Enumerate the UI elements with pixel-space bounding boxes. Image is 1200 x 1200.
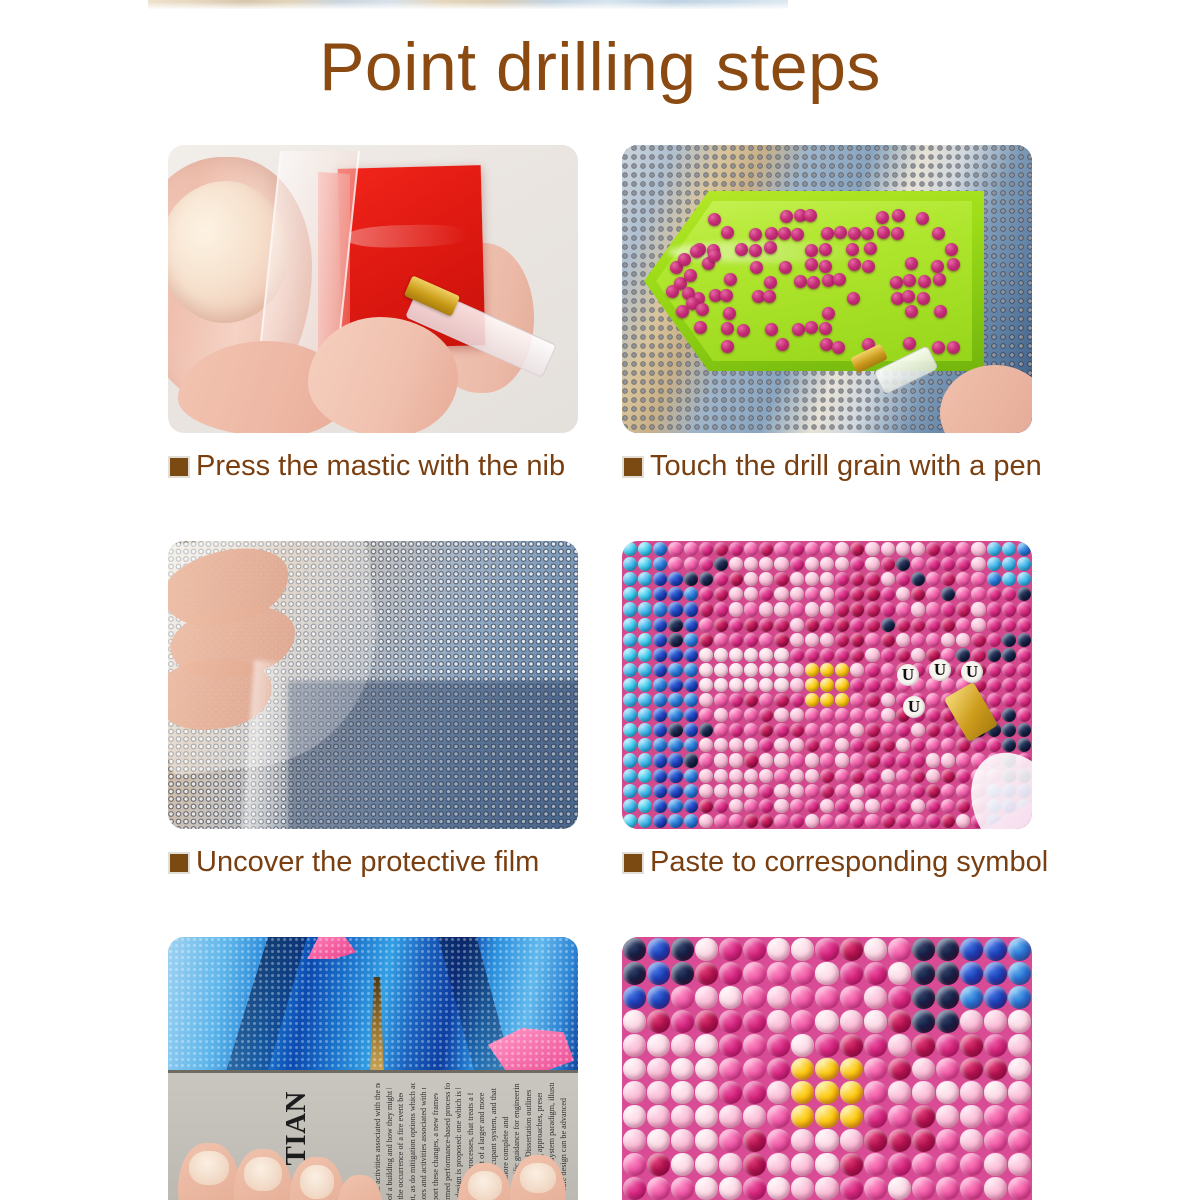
drill-cell	[1002, 542, 1016, 556]
drill-grain	[902, 290, 915, 303]
drill-grain	[721, 226, 734, 239]
drill-cell	[671, 1081, 694, 1104]
drill-cell	[912, 1153, 935, 1176]
drill-cell	[684, 738, 698, 752]
drill-cell	[684, 557, 698, 571]
drill-cell	[790, 618, 804, 632]
drill-cell	[638, 663, 652, 677]
drill-cell	[790, 572, 804, 586]
drill-cell	[759, 648, 773, 662]
drill-grain	[864, 242, 877, 255]
drill-cell	[790, 693, 804, 707]
drill-cell	[695, 1177, 718, 1200]
drill-cell	[815, 1153, 838, 1176]
drill-cell	[956, 799, 970, 813]
drill-cell	[815, 1105, 838, 1128]
drill-cell	[791, 1177, 814, 1200]
drill-grain	[847, 292, 860, 305]
drill-grain	[848, 258, 861, 271]
drill-cell	[774, 542, 788, 556]
drill-cell	[820, 572, 834, 586]
drill-cell	[684, 753, 698, 767]
drill-cell	[850, 799, 864, 813]
drill-cell	[971, 738, 985, 752]
drill-cell	[912, 1034, 935, 1057]
drill-cell	[911, 557, 925, 571]
drill-cell	[744, 542, 758, 556]
drill-cell	[984, 986, 1007, 1009]
drill-cell	[936, 938, 959, 961]
drill-cell	[759, 784, 773, 798]
drill-grain	[821, 227, 834, 240]
drill-cell	[744, 678, 758, 692]
drill-cell	[820, 587, 834, 601]
drill-cell	[744, 557, 758, 571]
drill-cell	[668, 557, 682, 571]
drill-cell	[888, 1177, 911, 1200]
drill-cell	[714, 799, 728, 813]
caption-3: Uncover the protective film	[168, 845, 578, 879]
drill-grain	[832, 341, 845, 354]
drill-cell	[790, 678, 804, 692]
strip-fade	[148, 0, 788, 9]
drill-cell	[791, 1058, 814, 1081]
drill-cell	[671, 1177, 694, 1200]
drill-cell	[881, 618, 895, 632]
drill-cell	[647, 1129, 670, 1152]
drill-cell	[719, 1034, 742, 1057]
drill-cell	[668, 542, 682, 556]
drill-cell	[1017, 542, 1031, 556]
drill-cell	[668, 738, 682, 752]
drill-cell	[941, 723, 955, 737]
drill-cell	[623, 678, 637, 692]
drill-cell	[911, 618, 925, 632]
drill-cell	[815, 1034, 838, 1057]
drill-cell	[850, 587, 864, 601]
drill-cell	[668, 633, 682, 647]
drill-cell	[759, 693, 773, 707]
drill-cell	[820, 769, 834, 783]
drill-cell	[926, 542, 940, 556]
drill-cell	[668, 618, 682, 632]
drill-cell	[941, 633, 955, 647]
drill-cell	[653, 633, 667, 647]
drill-cell	[767, 1129, 790, 1152]
drill-cell	[912, 962, 935, 985]
drill-cell	[1002, 648, 1016, 662]
drill-cell	[668, 663, 682, 677]
drill-cell	[805, 753, 819, 767]
drill-grain	[780, 210, 793, 223]
drill-cell	[984, 962, 1007, 985]
drill-cell	[653, 769, 667, 783]
drill-cell	[956, 572, 970, 586]
drill-cell	[714, 738, 728, 752]
drill-cell	[835, 723, 849, 737]
drill-cell	[729, 648, 743, 662]
drill-cell	[850, 633, 864, 647]
drill-grain	[750, 261, 763, 274]
drill-cell	[896, 814, 910, 828]
drill-cell	[960, 1177, 983, 1200]
drill-cell	[971, 557, 985, 571]
drill-cell	[638, 602, 652, 616]
drill-cell	[840, 1081, 863, 1104]
middle-finger	[308, 317, 458, 433]
drill-cell	[623, 557, 637, 571]
drill-cell	[774, 663, 788, 677]
drill-cell	[653, 618, 667, 632]
finished-drill-macro	[622, 937, 1032, 1200]
drill-cell	[671, 1153, 694, 1176]
drill-cell	[790, 784, 804, 798]
drill-cell	[684, 663, 698, 677]
drill-cell	[684, 693, 698, 707]
drill-cell	[941, 572, 955, 586]
drill-cell	[699, 572, 713, 586]
drill-cell	[744, 708, 758, 722]
drill-cell	[623, 753, 637, 767]
drill-grain	[947, 258, 960, 271]
drill-cell	[638, 678, 652, 692]
drill-cell	[668, 648, 682, 662]
drill-cell	[638, 769, 652, 783]
drill-cell	[971, 542, 985, 556]
bullet-square-icon	[622, 852, 644, 874]
uncover-protective-film-photo	[168, 541, 578, 829]
drill-cell	[926, 738, 940, 752]
drill-grain	[807, 276, 820, 289]
drill-cell	[695, 1010, 718, 1033]
drill-cell	[638, 587, 652, 601]
drill-cell	[684, 587, 698, 601]
drill-cell	[714, 814, 728, 828]
drill-cell	[815, 1058, 838, 1081]
drill-cell	[743, 1058, 766, 1081]
drill-cell	[790, 814, 804, 828]
drill-cell	[896, 602, 910, 616]
drill-cell	[864, 1129, 887, 1152]
drill-cell	[971, 587, 985, 601]
drill-cell	[911, 753, 925, 767]
drill-cell	[956, 618, 970, 632]
drill-cell	[941, 587, 955, 601]
page-text-column: affected by the occurrence of a fire eve…	[397, 1093, 405, 1200]
drill-cell	[623, 1153, 646, 1176]
drill-cell	[623, 633, 637, 647]
drill-cell	[671, 962, 694, 985]
drill-cell	[774, 784, 788, 798]
drill-cell	[881, 663, 895, 677]
drill-cell	[623, 663, 637, 677]
drill-cell	[956, 602, 970, 616]
drill-cell	[1002, 572, 1016, 586]
drill-cell	[774, 738, 788, 752]
drill-cell	[743, 938, 766, 961]
drill-cell	[912, 1105, 935, 1128]
drill-cell	[668, 678, 682, 692]
drill-cell	[699, 753, 713, 767]
drill-cell	[638, 542, 652, 556]
drill-grain	[905, 257, 918, 270]
drill-cell	[840, 1129, 863, 1152]
drill-cell	[790, 648, 804, 662]
drill-cell	[941, 542, 955, 556]
finger	[178, 1143, 240, 1200]
drill-cell	[699, 587, 713, 601]
drill-cell	[647, 962, 670, 985]
drill-cell	[653, 693, 667, 707]
drill-cell	[699, 814, 713, 828]
drill-cell	[941, 557, 955, 571]
drill-cell	[850, 769, 864, 783]
drill-cell	[805, 738, 819, 752]
drill-cell	[956, 587, 970, 601]
drill-cell	[971, 572, 985, 586]
drill-cell	[759, 618, 773, 632]
drill-cell	[729, 572, 743, 586]
drill-cell	[881, 633, 895, 647]
drill-cell	[759, 799, 773, 813]
caption-1: Press the mastic with the nib	[168, 449, 578, 483]
drill-cell	[759, 602, 773, 616]
drill-cell	[865, 602, 879, 616]
drill-grain	[735, 243, 748, 256]
drill-cell	[699, 618, 713, 632]
drill-cell	[623, 1010, 646, 1033]
drill-cell	[671, 1129, 694, 1152]
drill-cell	[971, 602, 985, 616]
drill-cell	[881, 678, 895, 692]
drill-cell	[911, 542, 925, 556]
drill-cell	[668, 769, 682, 783]
drill-cell	[759, 769, 773, 783]
drill-cell	[647, 1058, 670, 1081]
drill-cell	[790, 557, 804, 571]
drill-grain	[876, 211, 889, 224]
caption-4-label: Paste to corresponding symbol	[650, 845, 1048, 879]
drill-cell	[719, 1081, 742, 1104]
drill-cell	[815, 1081, 838, 1104]
drill-cell	[984, 1081, 1007, 1104]
drill-cell	[911, 572, 925, 586]
drill-cell	[850, 693, 864, 707]
drill-cell	[941, 602, 955, 616]
drill-cell	[791, 1153, 814, 1176]
drill-cell	[835, 769, 849, 783]
drill-cell	[623, 572, 637, 586]
drill-cell	[1017, 723, 1031, 737]
drill-grain	[819, 260, 832, 273]
drill-grain	[737, 324, 750, 337]
drill-cell	[865, 618, 879, 632]
symbol-cell-u: U	[929, 659, 951, 681]
drill-cell	[926, 708, 940, 722]
drill-cell	[759, 723, 773, 737]
drill-cell	[987, 557, 1001, 571]
drill-cell	[835, 814, 849, 828]
drill-cell	[881, 648, 895, 662]
drill-cell	[684, 723, 698, 737]
drill-cell	[638, 557, 652, 571]
drill-cell	[820, 602, 834, 616]
drill-cell	[956, 753, 970, 767]
drill-cell	[881, 587, 895, 601]
drill-cell	[835, 738, 849, 752]
drill-cell	[759, 587, 773, 601]
drill-cell	[767, 1034, 790, 1057]
drill-grain	[834, 226, 847, 239]
drill-cell	[865, 814, 879, 828]
drill-cell	[647, 938, 670, 961]
magenta-drill-grains	[656, 201, 972, 361]
drill-grain	[779, 261, 792, 274]
drill-grain	[776, 338, 789, 351]
drill-cell	[835, 708, 849, 722]
drill-cell	[1017, 557, 1031, 571]
drill-cell	[623, 542, 637, 556]
finger	[234, 1149, 292, 1200]
drill-cell	[987, 572, 1001, 586]
drill-cell	[719, 962, 742, 985]
drill-cell	[647, 1105, 670, 1128]
symbol-cell-u: U	[897, 664, 919, 686]
drill-cell	[960, 962, 983, 985]
drill-cell	[774, 633, 788, 647]
drill-cell	[668, 814, 682, 828]
drill-grain	[932, 227, 945, 240]
drill-cell	[759, 633, 773, 647]
drill-cell	[805, 799, 819, 813]
drill-cell	[744, 663, 758, 677]
drill-cell	[695, 938, 718, 961]
drill-cell	[729, 587, 743, 601]
drill-cell	[936, 962, 959, 985]
drill-cell	[896, 633, 910, 647]
drill-grain	[805, 244, 818, 257]
drill-cell	[941, 769, 955, 783]
drill-cell	[820, 753, 834, 767]
drill-cell	[729, 769, 743, 783]
drill-cell	[719, 1153, 742, 1176]
drill-cell	[926, 814, 940, 828]
drill-cell	[623, 1129, 646, 1152]
drill-cell	[912, 1129, 935, 1152]
drill-cell	[623, 814, 637, 828]
drill-cell	[684, 572, 698, 586]
drill-cell	[850, 648, 864, 662]
drill-cell	[791, 1105, 814, 1128]
drill-cell	[714, 587, 728, 601]
drill-cell	[888, 1081, 911, 1104]
drill-cell	[743, 1034, 766, 1057]
drill-cell	[638, 693, 652, 707]
drill-grain	[694, 321, 707, 334]
drill-cell	[987, 693, 1001, 707]
drill-cell	[881, 753, 895, 767]
drill-cell	[714, 753, 728, 767]
drill-cell	[835, 542, 849, 556]
drill-cell	[960, 1105, 983, 1128]
drill-cell	[820, 618, 834, 632]
drill-grain	[918, 275, 931, 288]
drill-cell	[840, 1177, 863, 1200]
drill-cell	[815, 938, 838, 961]
drill-cell	[767, 1010, 790, 1033]
drill-cell	[767, 962, 790, 985]
drill-cell	[774, 799, 788, 813]
drill-cell	[911, 769, 925, 783]
drill-cell	[699, 784, 713, 798]
drill-grain	[932, 341, 945, 354]
drill-cell	[881, 769, 895, 783]
drill-cell	[743, 1177, 766, 1200]
drill-cell	[623, 769, 637, 783]
drill-cell	[888, 1034, 911, 1057]
drill-cell	[888, 938, 911, 961]
drill-grain	[794, 275, 807, 288]
drill-cell	[744, 814, 758, 828]
drill-grain	[892, 209, 905, 222]
drill-cell	[805, 587, 819, 601]
drill-cell	[653, 587, 667, 601]
drill-cell	[623, 602, 637, 616]
drill-texture	[168, 937, 578, 1070]
drill-cell	[960, 1034, 983, 1057]
drill-cell	[926, 693, 940, 707]
book-page: ENMARK TIAN JUST doing so, the activitie…	[168, 1070, 578, 1200]
drill-cell	[926, 784, 940, 798]
drill-cell	[835, 618, 849, 632]
drill-grain	[791, 228, 804, 241]
drill-grain	[861, 227, 874, 240]
drill-cell	[623, 938, 646, 961]
drill-cell	[881, 542, 895, 556]
drill-cell	[896, 723, 910, 737]
drill-cell	[774, 693, 788, 707]
drill-cell	[623, 738, 637, 752]
drill-cell	[840, 1010, 863, 1033]
drill-cell	[960, 938, 983, 961]
drill-cell	[714, 633, 728, 647]
drill-cell	[684, 708, 698, 722]
drill-grain	[833, 273, 846, 286]
drill-cell	[714, 618, 728, 632]
drill-cell	[638, 784, 652, 798]
drill-cell	[911, 738, 925, 752]
drill-cell	[699, 693, 713, 707]
drill-cell	[865, 708, 879, 722]
drill-cell	[911, 723, 925, 737]
drill-cell	[896, 784, 910, 798]
drill-cell	[864, 1153, 887, 1176]
drill-cell	[671, 1034, 694, 1057]
drill-cell	[714, 602, 728, 616]
drill-cell	[865, 723, 879, 737]
drill-cell	[759, 557, 773, 571]
drill-cell	[936, 1105, 959, 1128]
drill-cell	[791, 1034, 814, 1057]
drill-grain	[763, 290, 776, 303]
drill-cell	[865, 572, 879, 586]
drill-cell	[744, 693, 758, 707]
drill-cell	[684, 618, 698, 632]
drill-cell	[684, 814, 698, 828]
drill-cell	[864, 1081, 887, 1104]
drill-cell	[647, 986, 670, 1009]
drill-cell	[623, 708, 637, 722]
